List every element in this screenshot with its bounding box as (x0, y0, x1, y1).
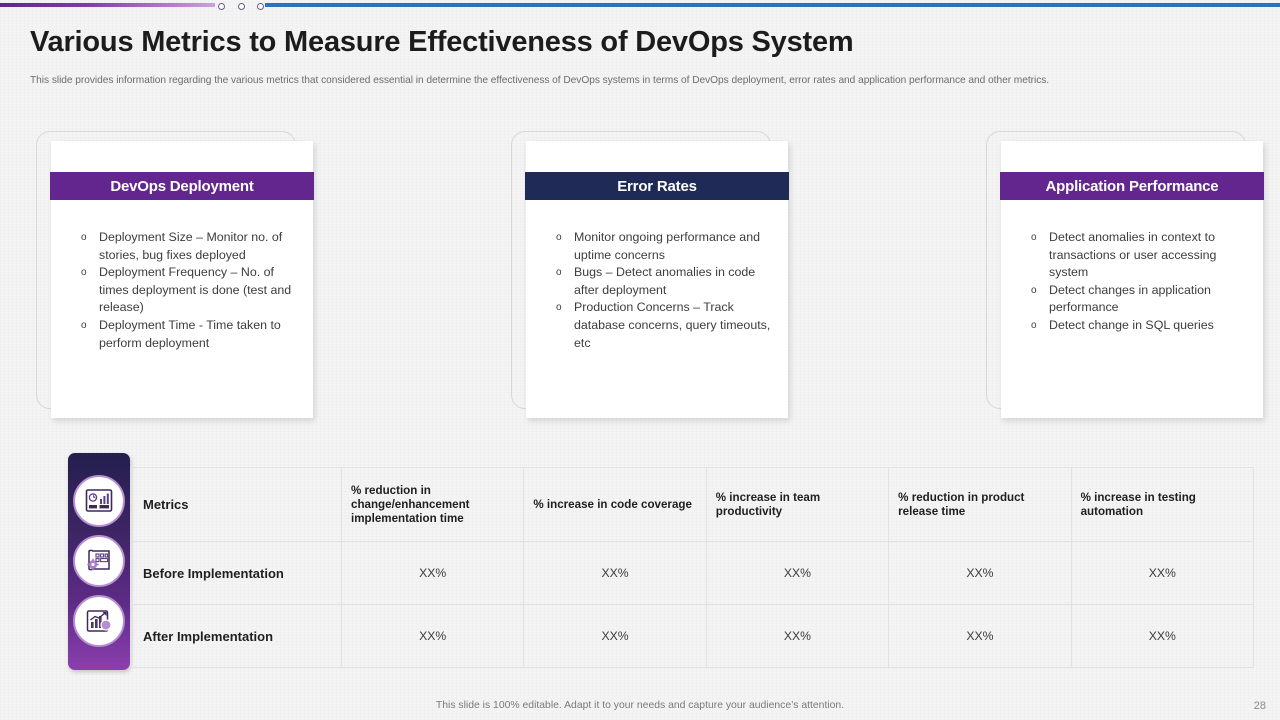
card-bullet-list: Monitor ongoing performance and uptime c… (548, 229, 773, 352)
top-decorative-bar (0, 0, 1280, 12)
metrics-table-block: Metrics % reduction in change/enhancemen… (68, 453, 1254, 670)
column-header: % increase in team productivity (706, 468, 888, 542)
cell-value: XX% (342, 542, 524, 605)
column-header: % increase in testing automation (1071, 468, 1253, 542)
cell-value: XX% (524, 542, 706, 605)
card-application-performance: Application Performance Detect anomalies… (986, 131, 1246, 409)
table-row: Before Implementation XX% XX% XX% XX% XX… (131, 542, 1254, 605)
cell-value: XX% (706, 542, 888, 605)
list-item: Monitor ongoing performance and uptime c… (548, 229, 773, 264)
growth-chart-icon (73, 595, 125, 647)
card-devops-deployment: DevOps Deployment Deployment Size – Moni… (36, 131, 296, 409)
circle-dot-icon (218, 3, 225, 10)
list-item: Detect change in SQL queries (1023, 317, 1248, 335)
column-header: % reduction in product release time (889, 468, 1071, 542)
dashboard-chart-icon (73, 475, 125, 527)
cell-value: XX% (889, 605, 1071, 668)
cell-value: XX% (706, 605, 888, 668)
table-row: After Implementation XX% XX% XX% XX% XX% (131, 605, 1254, 668)
card-bullet-list: Deployment Size – Monitor no. of stories… (73, 229, 298, 352)
card-error-rates: Error Rates Monitor ongoing performance … (511, 131, 771, 409)
card-surface: DevOps Deployment Deployment Size – Moni… (51, 141, 313, 418)
table-header-row: Metrics % reduction in change/enhancemen… (131, 468, 1254, 542)
page-number: 28 (1254, 700, 1266, 712)
list-item: Deployment Time - Time taken to perform … (73, 317, 298, 352)
metrics-icon-rail (68, 453, 130, 670)
cell-value: XX% (889, 542, 1071, 605)
column-header: % increase in code coverage (524, 468, 706, 542)
footer-note: This slide is 100% editable. Adapt it to… (0, 700, 1280, 711)
cell-value: XX% (524, 605, 706, 668)
page-title: Various Metrics to Measure Effectiveness… (30, 26, 853, 59)
list-item: Detect changes in application performanc… (1023, 282, 1248, 317)
metrics-table: Metrics % reduction in change/enhancemen… (130, 467, 1254, 668)
list-item: Detect anomalies in context to transacti… (1023, 229, 1248, 282)
slide-canvas: Various Metrics to Measure Effectiveness… (0, 0, 1280, 720)
card-bullet-list: Detect anomalies in context to transacti… (1023, 229, 1248, 335)
page-subtitle: This slide provides information regardin… (30, 75, 1255, 86)
card-title: DevOps Deployment (110, 178, 253, 195)
topbar-left-accent (0, 3, 215, 7)
card-title-banner: Application Performance (1000, 172, 1264, 200)
circle-dot-icon (257, 3, 264, 10)
list-item: Production Concerns – Track database con… (548, 299, 773, 352)
card-title-banner: Error Rates (525, 172, 789, 200)
list-item: Deployment Size – Monitor no. of stories… (73, 229, 298, 264)
topbar-dots (218, 0, 264, 12)
row-label-after: After Implementation (131, 605, 342, 668)
list-item: Deployment Frequency – No. of times depl… (73, 264, 298, 317)
blueprint-gear-icon (73, 535, 125, 587)
circle-dot-icon (238, 3, 245, 10)
cell-value: XX% (1071, 542, 1253, 605)
cell-value: XX% (342, 605, 524, 668)
card-surface: Error Rates Monitor ongoing performance … (526, 141, 788, 418)
topbar-right-accent (265, 3, 1280, 7)
card-title-banner: DevOps Deployment (50, 172, 314, 200)
cell-value: XX% (1071, 605, 1253, 668)
card-title: Error Rates (617, 178, 697, 195)
column-header: % reduction in change/enhancement implem… (342, 468, 524, 542)
card-title: Application Performance (1046, 178, 1219, 195)
row-label-before: Before Implementation (131, 542, 342, 605)
card-surface: Application Performance Detect anomalies… (1001, 141, 1263, 418)
row-label-metrics: Metrics (131, 468, 342, 542)
list-item: Bugs – Detect anomalies in code after de… (548, 264, 773, 299)
